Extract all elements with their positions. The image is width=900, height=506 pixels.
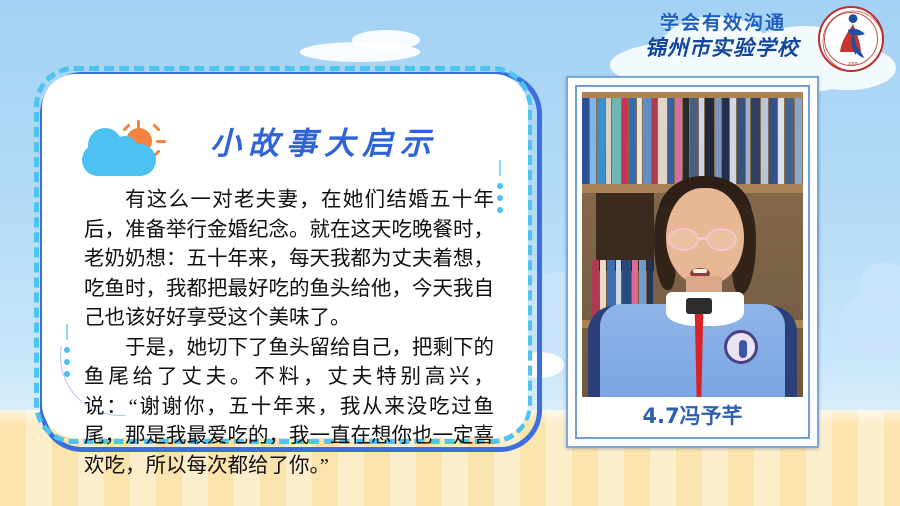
story-title: 小故事大启示 — [210, 118, 510, 163]
eyeglasses-left-lens — [668, 228, 699, 251]
bookshelf-books-row-1 — [582, 98, 803, 184]
header-school-name: 锦州市实验学校 — [619, 32, 825, 62]
card-surface: 小故事大启示 有这么一对老夫妻，在她们结婚五十年后，准备举行金婚纪念。就在这天吃… — [42, 74, 528, 438]
story-paragraph-1: 有这么一对老夫妻，在她们结婚五十年后，准备举行金婚纪念。就在这天吃晚餐时，老奶奶… — [84, 186, 494, 334]
microphone-clip — [686, 298, 712, 314]
story-card: 小故事大启示 有这么一对老夫妻，在她们结婚五十年后，准备举行金婚纪念。就在这天吃… — [32, 62, 542, 452]
story-body: 有这么一对老夫妻，在她们结婚五十年后，准备举行金婚纪念。就在这天吃晚餐时，老奶奶… — [84, 186, 494, 481]
eyeglasses-bridge — [699, 237, 708, 240]
photo-panel: 4.7冯予芊 — [566, 76, 819, 448]
header-slogan: 学会有效沟通 — [625, 8, 821, 35]
uniform-badge — [724, 330, 758, 364]
photo-caption: 4.7冯予芊 — [582, 399, 803, 433]
school-emblem-icon: 2005 — [818, 6, 884, 72]
dots-decor-right — [497, 160, 503, 219]
eyeglasses-right-lens — [706, 228, 737, 251]
slide-canvas: 学会有效沟通 锦州市实验学校 2005 — [0, 0, 900, 506]
story-paragraph-2: 于是，她切下了鱼头留给自己，把剩下的鱼尾给了丈夫。不料，丈夫特别高兴，说：“谢谢… — [84, 334, 494, 482]
story-title-row: 小故事大启示 — [82, 118, 502, 176]
photo-frame: 4.7冯予芊 — [575, 85, 810, 439]
header: 学会有效沟通 锦州市实验学校 2005 — [617, 2, 892, 76]
cloud-sun-icon — [82, 122, 162, 178]
dots-decor-left — [64, 324, 70, 383]
cloud-decor-2 — [352, 30, 420, 50]
student-photo — [582, 92, 803, 397]
